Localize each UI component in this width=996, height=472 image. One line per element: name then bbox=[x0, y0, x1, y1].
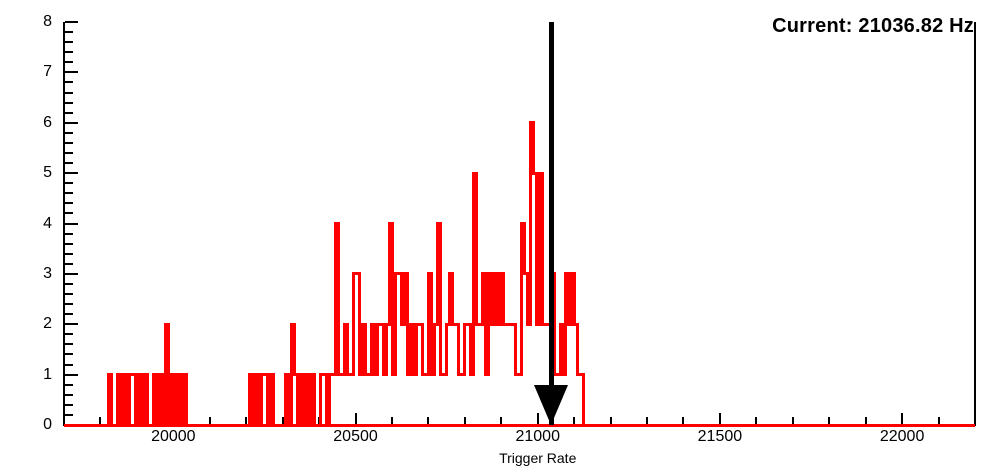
histogram-bin-edge bbox=[128, 373, 131, 426]
histogram-bin-edge bbox=[185, 373, 188, 426]
histogram-bin-edge bbox=[445, 323, 448, 376]
histogram-bin-edge bbox=[328, 373, 331, 426]
y-tick-label: 1 bbox=[43, 366, 52, 384]
histogram-bin-edge bbox=[514, 323, 517, 376]
histogram-bin-edge bbox=[463, 323, 466, 376]
y-tick-minor bbox=[65, 92, 73, 94]
y-tick-minor bbox=[65, 353, 73, 355]
y-tick-minor bbox=[65, 384, 73, 386]
y-tick-minor bbox=[65, 343, 73, 345]
y-tick-minor bbox=[65, 233, 73, 235]
y-tick-minor bbox=[65, 293, 73, 295]
histogram-bin-edge bbox=[260, 373, 263, 426]
histogram-bin-edge bbox=[475, 172, 478, 326]
histogram-bin-edge bbox=[313, 373, 316, 426]
y-tick-major bbox=[65, 21, 78, 23]
y-tick-minor bbox=[65, 253, 73, 255]
x-tick-major bbox=[901, 413, 903, 424]
histogram-bin-edge bbox=[352, 272, 355, 376]
y-tick-minor bbox=[65, 102, 73, 104]
histogram-bin-edge bbox=[541, 172, 544, 326]
y-tick-label: 4 bbox=[43, 215, 52, 233]
y-tick-minor bbox=[65, 152, 73, 154]
y-tick-minor bbox=[65, 61, 73, 63]
y-tick-label: 6 bbox=[43, 114, 52, 132]
histogram-bin-edge bbox=[439, 222, 442, 376]
histogram-bin-edge bbox=[457, 323, 460, 376]
y-tick-major bbox=[65, 71, 78, 73]
y-tick-minor bbox=[65, 333, 73, 335]
histogram-bin-edge bbox=[337, 222, 340, 376]
histogram-bin-edge bbox=[394, 272, 397, 376]
histogram-bin-edge bbox=[346, 323, 349, 376]
y-tick-label: 8 bbox=[43, 13, 52, 31]
histogram-bin-edge bbox=[385, 323, 388, 376]
x-tick-label: 21000 bbox=[515, 428, 560, 446]
histogram-baseline bbox=[64, 424, 975, 427]
x-tick-major bbox=[355, 413, 357, 424]
y-tick-minor bbox=[65, 41, 73, 43]
y-axis-labels: 012345678 bbox=[0, 0, 58, 472]
histogram-bin-edge bbox=[421, 323, 424, 376]
y-tick-label: 0 bbox=[43, 416, 52, 434]
histogram-bin-edge bbox=[293, 323, 296, 376]
y-tick-minor bbox=[65, 394, 73, 396]
y-tick-minor bbox=[65, 414, 73, 416]
y-tick-minor bbox=[65, 404, 73, 406]
y-tick-minor bbox=[65, 303, 73, 305]
histogram-bin-edge bbox=[523, 222, 526, 275]
histogram-bin-edge bbox=[451, 272, 454, 325]
x-tick-label: 20500 bbox=[333, 428, 378, 446]
histogram-bin-edge bbox=[576, 323, 579, 376]
histogram-bin-edge bbox=[433, 323, 436, 376]
x-axis-title: Trigger Rate bbox=[499, 450, 576, 466]
x-tick-label: 22000 bbox=[880, 428, 925, 446]
y-axis-line bbox=[63, 22, 65, 426]
y-tick-minor bbox=[65, 81, 73, 83]
y-tick-minor bbox=[65, 202, 73, 204]
y-tick-label: 2 bbox=[43, 315, 52, 333]
y-tick-minor bbox=[65, 283, 73, 285]
chart-canvas: Current: 21036.82 Hz 012345678 200002050… bbox=[0, 0, 996, 472]
histogram-bin-edge bbox=[272, 373, 275, 426]
y-tick-minor bbox=[65, 313, 73, 315]
x-tick-label: 21500 bbox=[698, 428, 743, 446]
current-rate-marker-line bbox=[549, 22, 554, 425]
histogram-bin-edge bbox=[146, 373, 149, 426]
histogram-bin-edge bbox=[415, 323, 418, 376]
y-tick-minor bbox=[65, 364, 73, 366]
y-tick-major bbox=[65, 172, 78, 174]
histogram-bin-edge bbox=[573, 272, 576, 325]
y-tick-minor bbox=[65, 51, 73, 53]
y-tick-label: 3 bbox=[43, 265, 52, 283]
y-tick-minor bbox=[65, 243, 73, 245]
histogram-bin-edge bbox=[364, 323, 367, 376]
y-tick-label: 5 bbox=[43, 164, 52, 182]
histogram-bin-edge bbox=[319, 373, 322, 426]
histogram-bin-edge bbox=[376, 323, 379, 376]
y-tick-minor bbox=[65, 192, 73, 194]
y-tick-minor bbox=[65, 182, 73, 184]
y-tick-minor bbox=[65, 132, 73, 134]
y-tick-major bbox=[65, 323, 78, 325]
y-tick-major bbox=[65, 273, 78, 275]
y-tick-minor bbox=[65, 112, 73, 114]
y-tick-label: 7 bbox=[43, 63, 52, 81]
y-tick-major bbox=[65, 223, 78, 225]
right-frame-line bbox=[974, 22, 976, 426]
y-tick-major bbox=[65, 374, 78, 376]
current-rate-marker-arrowhead bbox=[534, 385, 568, 425]
y-tick-minor bbox=[65, 162, 73, 164]
histogram-bin-edge bbox=[582, 373, 585, 426]
histogram-bin-edge bbox=[502, 272, 505, 325]
x-tick-label: 20000 bbox=[151, 428, 196, 446]
y-tick-minor bbox=[65, 212, 73, 214]
histogram-bin-edge bbox=[110, 373, 113, 426]
histogram-bin-edge bbox=[532, 121, 535, 174]
y-tick-minor bbox=[65, 263, 73, 265]
x-tick-major bbox=[719, 413, 721, 424]
y-tick-major bbox=[65, 122, 78, 124]
page-title: Current: 21036.82 Hz bbox=[772, 15, 974, 38]
y-tick-minor bbox=[65, 31, 73, 33]
y-tick-minor bbox=[65, 142, 73, 144]
